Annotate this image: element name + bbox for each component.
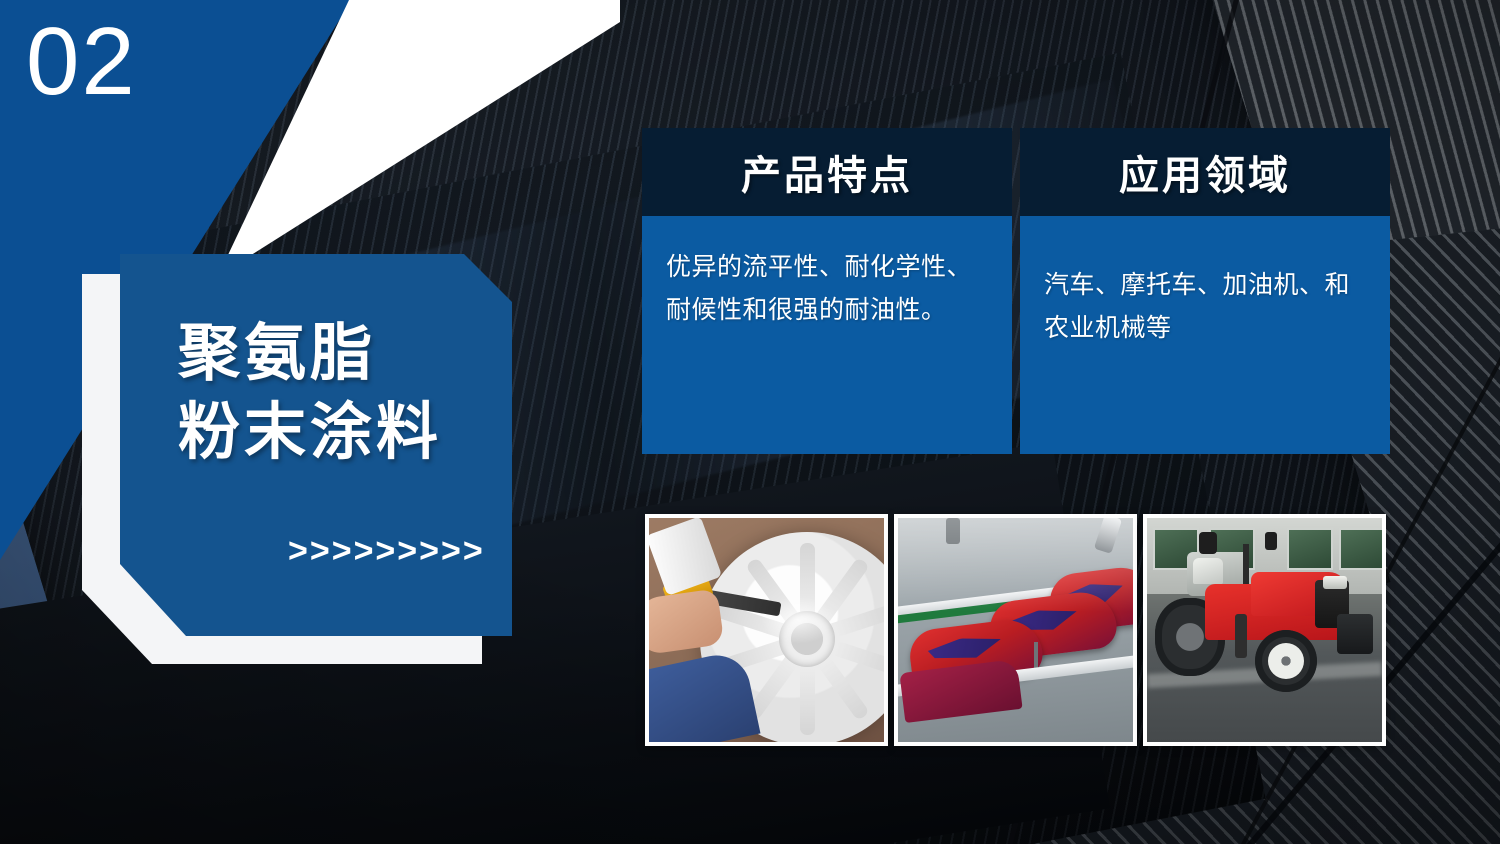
- panel-body-application-fields: 汽车、摩托车、加油机、和农业机械等: [1020, 216, 1390, 454]
- spray-gun-hopper-shape: [649, 518, 722, 596]
- panel-body-product-features: 优异的流平性、耐化学性、耐候性和很强的耐油性。: [642, 216, 1012, 454]
- tractor-headlight-shape: [1323, 576, 1347, 589]
- panel-header-label: 产品特点: [741, 143, 913, 201]
- tractor-wheel-rim-shape: [1268, 643, 1304, 679]
- chevron-arrows-icon: >>>>>>>>>: [288, 532, 485, 571]
- photo-red-tractor: [1143, 514, 1386, 746]
- presentation-slide: 02 聚氨脂 粉末涂料 >>>>>>>>> 产品特点 优异的流平性、耐化学性、耐…: [0, 0, 1500, 844]
- tractor-exhaust-shape: [1235, 614, 1247, 658]
- tractor-mirror-shape: [1265, 532, 1277, 550]
- panel-header-label: 应用领域: [1119, 143, 1291, 201]
- panel-header-product-features: 产品特点: [642, 128, 1012, 216]
- title-text: 聚氨脂 粉末涂料: [178, 314, 508, 473]
- panel-body-text: 优异的流平性、耐化学性、耐候性和很强的耐油性。: [666, 246, 990, 332]
- overspray-haze-overlay: [898, 518, 1133, 742]
- section-number: 02: [26, 14, 137, 110]
- tractor-mirror-shape: [1199, 532, 1217, 554]
- title-block: 聚氨脂 粉末涂料 >>>>>>>>>: [82, 254, 522, 664]
- photo-image: [1147, 518, 1382, 742]
- photo-image: [649, 518, 884, 742]
- panel-header-application-fields: 应用领域: [1020, 128, 1390, 216]
- title-line-1: 聚氨脂: [178, 314, 508, 393]
- title-line-2: 粉末涂料: [178, 393, 508, 472]
- info-panels: 产品特点 优异的流平性、耐化学性、耐候性和很强的耐油性。 应用领域 汽车、摩托车…: [642, 128, 1390, 454]
- tractor-seat-shape: [1193, 558, 1223, 584]
- panel-body-text: 汽车、摩托车、加油机、和农业机械等: [1044, 264, 1368, 350]
- photo-image: [898, 518, 1133, 742]
- tractor-front-implement-shape: [1337, 614, 1373, 654]
- photo-wheel-powder-coating: [645, 514, 888, 746]
- panel-product-features: 产品特点 优异的流平性、耐化学性、耐候性和很强的耐油性。: [642, 128, 1012, 454]
- panel-application-fields: 应用领域 汽车、摩托车、加油机、和农业机械等: [1020, 128, 1390, 454]
- title-blue-card: 聚氨脂 粉末涂料 >>>>>>>>>: [120, 254, 512, 636]
- photo-motorcycle-tanks-line: [894, 514, 1137, 746]
- photo-strip: [645, 514, 1386, 746]
